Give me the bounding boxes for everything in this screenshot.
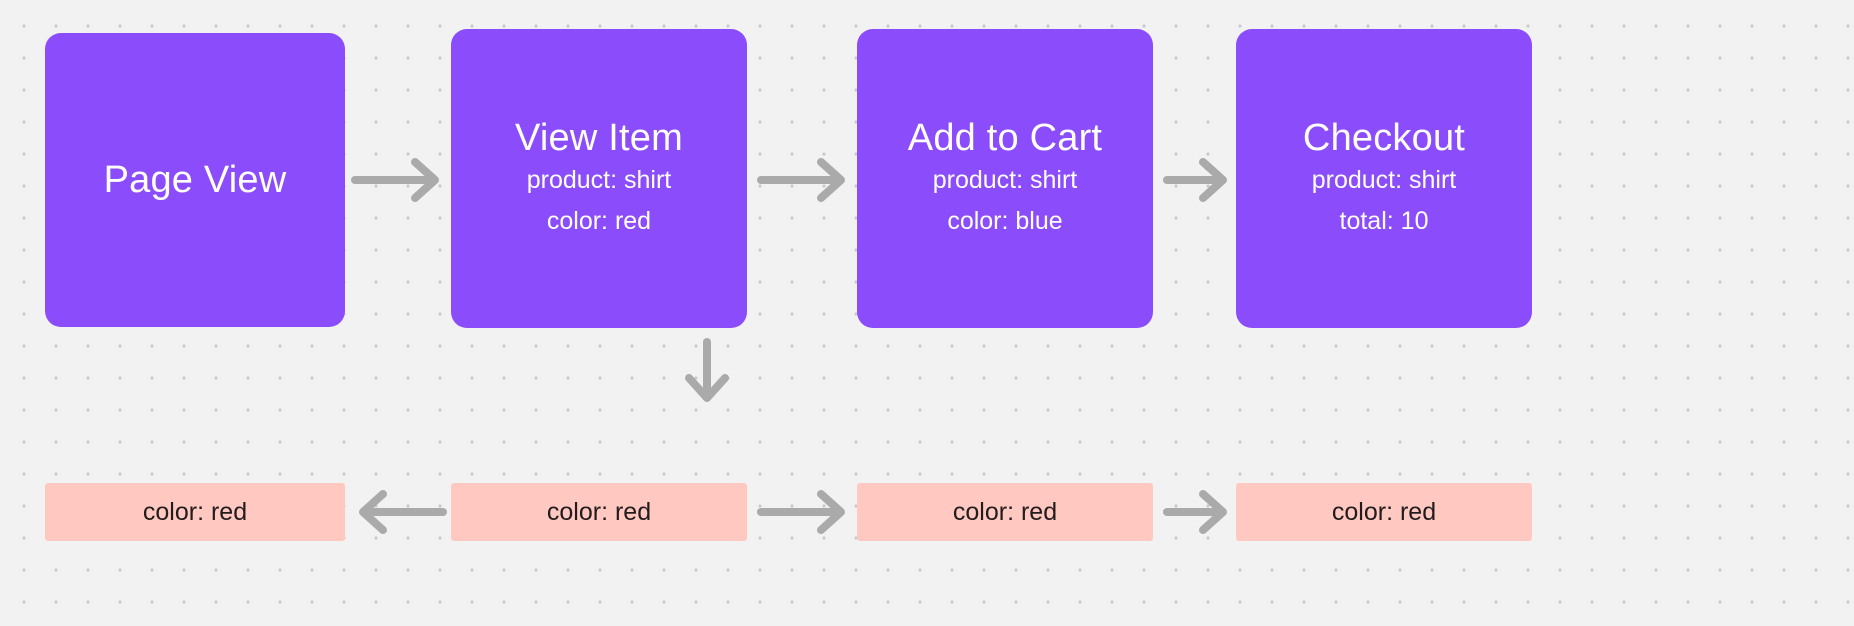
chip-label: color: red xyxy=(143,498,247,527)
arrow-chip-2-to-chip-1 xyxy=(355,492,445,532)
arrow-chip-2-to-chip-3 xyxy=(759,492,849,532)
node-property: color: blue xyxy=(947,201,1062,242)
arrow-page-view-to-view-item xyxy=(353,160,443,200)
chip-color-red-2[interactable]: color: red xyxy=(451,483,747,541)
node-properties: product: shirt total: 10 xyxy=(1312,160,1457,241)
node-property: product: shirt xyxy=(1312,160,1457,201)
arrow-chip-3-to-chip-4 xyxy=(1165,492,1231,532)
chip-color-red-3[interactable]: color: red xyxy=(857,483,1153,541)
node-page-view[interactable]: Page View xyxy=(45,33,345,327)
node-title: Checkout xyxy=(1303,116,1465,161)
chip-label: color: red xyxy=(953,498,1057,527)
chip-label: color: red xyxy=(547,498,651,527)
node-property: color: red xyxy=(547,201,651,242)
node-properties: product: shirt color: blue xyxy=(933,160,1078,241)
node-property: product: shirt xyxy=(527,160,672,201)
node-view-item[interactable]: View Item product: shirt color: red xyxy=(451,29,747,328)
chip-color-red-4[interactable]: color: red xyxy=(1236,483,1532,541)
arrow-view-item-down-to-chip-2 xyxy=(687,340,727,406)
flow-canvas[interactable]: Page View View Item product: shirt color… xyxy=(0,0,1854,626)
chip-label: color: red xyxy=(1332,498,1436,527)
node-title: Add to Cart xyxy=(908,116,1102,161)
arrow-add-to-cart-to-checkout xyxy=(1165,160,1231,200)
arrow-view-item-to-add-to-cart xyxy=(759,160,849,200)
node-property: product: shirt xyxy=(933,160,1078,201)
node-add-to-cart[interactable]: Add to Cart product: shirt color: blue xyxy=(857,29,1153,328)
node-title: Page View xyxy=(104,158,287,203)
node-title: View Item xyxy=(515,116,683,161)
node-properties: product: shirt color: red xyxy=(527,160,672,241)
node-property: total: 10 xyxy=(1340,201,1429,242)
chip-color-red-1[interactable]: color: red xyxy=(45,483,345,541)
node-checkout[interactable]: Checkout product: shirt total: 10 xyxy=(1236,29,1532,328)
